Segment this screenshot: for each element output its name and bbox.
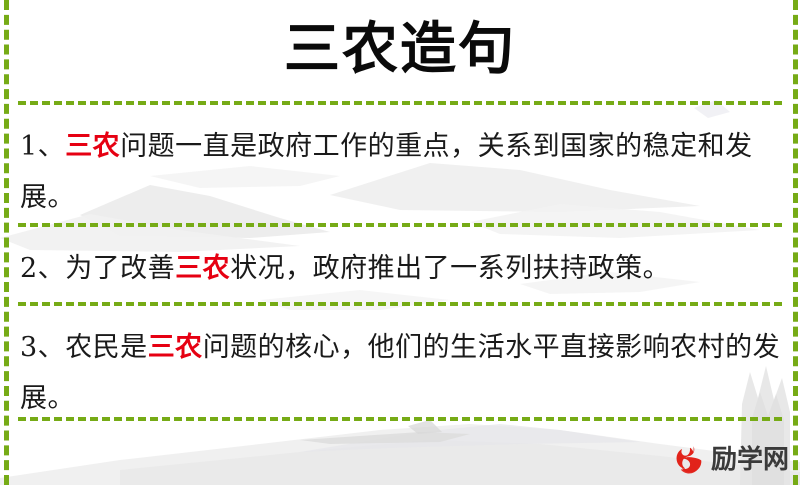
sentence-text-before: 农民是 <box>65 332 148 363</box>
red-swirl-flame-icon <box>672 443 706 477</box>
sentence-item: 1、三农问题一直是政府工作的重点，关系到国家的稳定和发展。 <box>20 121 782 223</box>
sentence-text-after: 状况，政府推出了一系列扶持政策。 <box>230 253 670 284</box>
site-logo-text: 励学网 <box>711 445 789 475</box>
sentence-index: 3、 <box>20 332 65 363</box>
sentence-text-before: 为了改善 <box>65 253 175 284</box>
page-title: 三农造句 <box>0 12 800 86</box>
divider-below-title <box>18 101 782 105</box>
page-root: 三农造句 1、三农问题一直是政府工作的重点，关系到国家的稳定和发展。 2、为了改… <box>0 0 800 485</box>
divider-after-sentence-2 <box>18 302 782 306</box>
divider-after-sentence-1 <box>18 223 782 227</box>
keyword-sannong: 三农 <box>65 131 120 162</box>
sentence-index: 2、 <box>20 253 65 284</box>
site-logo[interactable]: 励学网 <box>672 443 789 477</box>
keyword-sannong: 三农 <box>175 253 230 284</box>
keyword-sannong: 三农 <box>148 332 203 363</box>
sentence-item: 2、为了改善三农状况，政府推出了一系列扶持政策。 <box>20 243 782 294</box>
sentence-text-after: 问题一直是政府工作的重点，关系到国家的稳定和发展。 <box>20 131 753 213</box>
sentence-item: 3、农民是三农问题的核心，他们的生活水平直接影响农村的发展。 <box>20 322 782 424</box>
sentence-index: 1、 <box>20 131 65 162</box>
